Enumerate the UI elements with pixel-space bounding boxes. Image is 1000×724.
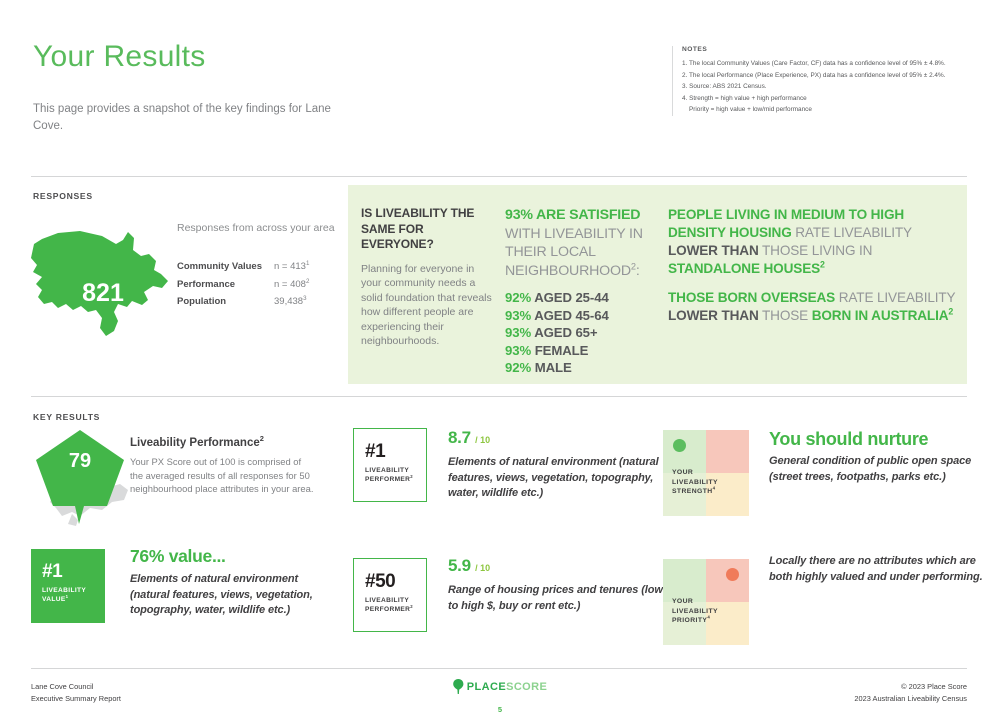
page-subtitle: This page provides a snapshot of the key… (33, 101, 333, 135)
stat-value: 39,4383 (274, 296, 307, 307)
attribute-score: 5.9 / 10 (448, 556, 663, 578)
responses-count: 821 (28, 228, 170, 338)
cohort-statement-density: PEOPLE LIVING IN MEDIUM TO HIGH DENSITY … (668, 206, 958, 278)
liveability-performance-block: Liveability Performance2 Your PX Score o… (130, 436, 315, 496)
insights-body: Planning for everyone in your community … (361, 262, 493, 349)
nurture-heading: You should nurture (769, 428, 974, 450)
section-label-responses: RESPONSES (33, 191, 93, 201)
breakdown-row: 93% AGED 45-64 (505, 307, 665, 325)
stat-row: Performance n = 4082 (177, 279, 342, 290)
attribute-score: 8.7 / 10 (448, 428, 663, 450)
responses-caption: Responses from across your area (177, 222, 335, 234)
insights-column-satisfaction: 93% ARE SATISFIED WITH LIVEABILITY IN TH… (505, 206, 665, 377)
note-item: Priority = high value + low/mid performa… (682, 104, 957, 116)
footer-copyright: © 2023 Place Score (854, 681, 967, 693)
nurture-description: General condition of public open space (… (769, 454, 974, 485)
responses-map-graphic: 821 (28, 228, 170, 338)
footer-right: © 2023 Place Score 2023 Australian Livea… (854, 681, 967, 704)
page-number: 5 (498, 705, 502, 714)
insights-column-equity: IS LIVEABILITY THE SAME FOR EVERYONE? Pl… (361, 206, 493, 349)
value-attribute-block: 76% value... Elements of natural environ… (130, 546, 340, 619)
quadrant-cell-top-right (706, 430, 749, 473)
page-title: Your Results (33, 40, 206, 74)
cohort-statement-birthplace: THOSE BORN OVERSEAS RATE LIVEABILITY LOW… (668, 289, 958, 325)
quadrant-matrix-priority[interactable]: YOUR LIVEABILITY PRIORITY4 (663, 559, 749, 645)
notes-title: NOTES (682, 46, 957, 53)
liveability-performance-description: Your PX Score out of 100 is comprised of… (130, 455, 315, 496)
quadrant-cell-top-left (663, 559, 706, 602)
rank-badge-performer-1[interactable]: #1 LIVEABILITY PERFORMER2 (353, 428, 427, 502)
place-pin-icon (453, 679, 464, 694)
pentagon-pin-icon (32, 428, 142, 528)
rank-sublabel: LIVEABILITY PERFORMER2 (365, 596, 426, 614)
insights-column-cohorts: PEOPLE LIVING IN MEDIUM TO HIGH DENSITY … (668, 206, 958, 325)
px-score-value: 79 (32, 450, 128, 473)
notes-block: NOTES 1. The local Community Values (Car… (672, 46, 957, 116)
value-description: Elements of natural environment (natural… (130, 572, 340, 619)
priority-marker-dot (726, 568, 739, 581)
note-item: 3. Source: ABS 2021 Census. (682, 81, 957, 93)
divider-footer (31, 668, 967, 669)
px-score-pin: 79 (32, 428, 142, 528)
rank-number: #1 (365, 442, 426, 462)
divider-responses (31, 176, 967, 177)
stat-label: Performance (177, 279, 274, 290)
placescore-wordmark: PLACESCORE (467, 681, 547, 693)
rank-number: #50 (365, 572, 426, 592)
placescore-logo: PLACESCORE (453, 679, 547, 694)
note-item: 1. The local Community Values (Care Fact… (682, 58, 957, 70)
priority-block: Locally there are no attributes which ar… (769, 554, 984, 585)
footer-left: Lane Cove Council Executive Summary Repo… (31, 681, 121, 704)
value-heading: 76% value... (130, 546, 340, 567)
attribute-description: Range of housing prices and tenures (low… (448, 583, 663, 614)
satisfaction-breakdown-list: 92% AGED 25-44 93% AGED 45-64 93% AGED 6… (505, 289, 665, 377)
liveability-performance-title: Liveability Performance2 (130, 436, 315, 451)
rank-badge-performer-50[interactable]: #50 LIVEABILITY PERFORMER2 (353, 558, 427, 632)
note-item: 2. The local Performance (Place Experien… (682, 70, 957, 82)
nurture-block: You should nurture General condition of … (769, 428, 974, 485)
insights-panel: IS LIVEABILITY THE SAME FOR EVERYONE? Pl… (348, 185, 967, 384)
breakdown-row: 93% AGED 65+ (505, 324, 665, 342)
lowest-performer-attribute-block: 5.9 / 10 Range of housing prices and ten… (448, 556, 663, 614)
rank-number: #1 (42, 562, 105, 582)
attribute-description: Elements of natural environment (natural… (448, 455, 663, 502)
breakdown-row: 93% FEMALE (505, 342, 665, 360)
satisfaction-lead: 93% ARE SATISFIED WITH LIVEABILITY IN TH… (505, 206, 665, 280)
stat-value: n = 4131 (274, 261, 309, 272)
footer-census-name: 2023 Australian Liveability Census (854, 693, 967, 705)
breakdown-row: 92% MALE (505, 359, 665, 377)
quadrant-label: YOUR LIVEABILITY STRENGTH4 (672, 468, 718, 497)
footer-council-name: Lane Cove Council (31, 681, 121, 693)
stat-label: Community Values (177, 261, 274, 272)
quadrant-matrix-strength[interactable]: YOUR LIVEABILITY STRENGTH4 (663, 430, 749, 516)
insights-heading: IS LIVEABILITY THE SAME FOR EVERYONE? (361, 206, 493, 253)
divider-key-results (31, 396, 967, 397)
priority-description: Locally there are no attributes which ar… (769, 554, 984, 585)
strength-marker-dot (673, 439, 686, 452)
rank-sublabel: LIVEABILITY VALUE1 (42, 586, 105, 604)
stat-row: Community Values n = 4131 (177, 261, 342, 272)
stat-value: n = 4082 (274, 279, 309, 290)
stat-label: Population (177, 296, 274, 307)
responses-stats-list: Community Values n = 4131 Performance n … (177, 261, 342, 314)
breakdown-row: 92% AGED 25-44 (505, 289, 665, 307)
stat-row: Population 39,4383 (177, 296, 342, 307)
top-performer-attribute-block: 8.7 / 10 Elements of natural environment… (448, 428, 663, 502)
rank-sublabel: LIVEABILITY PERFORMER2 (365, 466, 426, 484)
footer-report-name: Executive Summary Report (31, 693, 121, 705)
quadrant-cell-top-right (706, 559, 749, 602)
note-item: 4. Strength = high value + high performa… (682, 93, 957, 105)
rank-badge-value-1[interactable]: #1 LIVEABILITY VALUE1 (31, 549, 105, 623)
quadrant-cell-top-left (663, 430, 706, 473)
section-label-key-results: KEY RESULTS (33, 412, 100, 422)
quadrant-label: YOUR LIVEABILITY PRIORITY4 (672, 597, 718, 626)
